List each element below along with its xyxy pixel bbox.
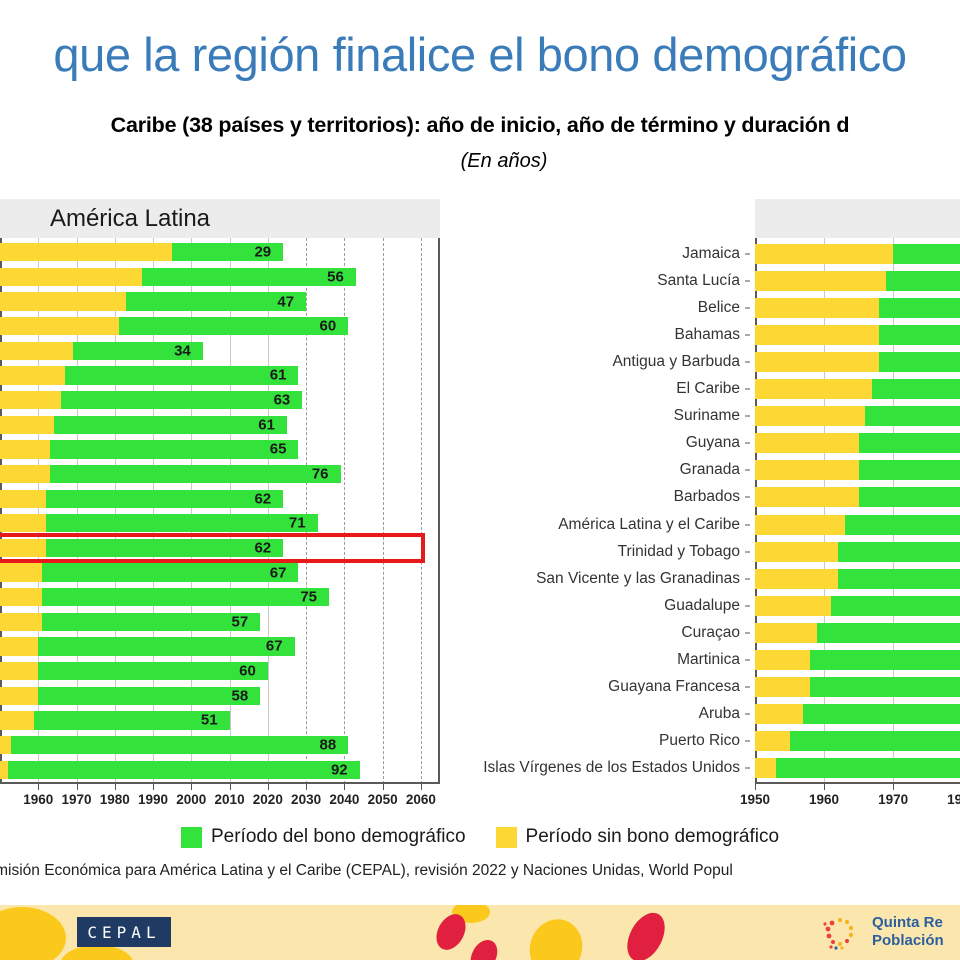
x-axis-tick-mark: [115, 784, 116, 790]
bar-row[interactable]: 62: [0, 539, 440, 557]
x-axis-tick-mark: [383, 784, 384, 790]
bar-row[interactable]: 29: [0, 243, 440, 261]
bar-row[interactable]: 57: [0, 613, 440, 631]
y-axis-tick-mark: [745, 632, 750, 633]
y-axis-tick-label: Granada: [680, 461, 740, 479]
bar-segment-no-bonus: [755, 460, 859, 480]
x-axis-tick-label: 1970: [878, 792, 908, 807]
page-units: (En años): [0, 150, 960, 173]
bar-row[interactable]: 76: [0, 465, 440, 483]
y-axis-labels-el-caribe: JamaicaSanta LucíaBeliceBahamasAntigua y…: [450, 238, 750, 784]
bar-value-label: 58: [0, 687, 248, 704]
y-axis-tick-label: Martinica: [677, 651, 740, 669]
legend-swatch-green-icon: [181, 827, 202, 848]
axis-line: [755, 238, 757, 784]
quinta-reunion-text: Quinta Re Población: [872, 914, 944, 949]
chart-title-america-latina: América Latina: [0, 199, 440, 238]
chart-panel-el-caribe: El JamaicaSanta LucíaBeliceBahamasAntigu…: [450, 199, 960, 784]
x-axis-tick-mark: [77, 784, 78, 790]
bar-value-label: 29: [0, 244, 271, 261]
x-axis-tick-mark: [344, 784, 345, 790]
y-axis-tick-mark: [745, 280, 750, 281]
bar-value-label: 53: [755, 245, 960, 262]
x-axis-tick-label: 1960: [23, 792, 53, 807]
legend-swatch-yellow-icon: [496, 827, 517, 848]
bar-row[interactable]: 71: [0, 514, 440, 532]
bar-row[interactable]: 47: [0, 292, 440, 310]
bar-row[interactable]: 67: [0, 637, 440, 655]
bar-row[interactable]: 61: [0, 366, 440, 384]
y-axis-tick-label: El Caribe: [676, 380, 740, 398]
x-axis-tick-mark: [153, 784, 154, 790]
bar-row[interactable]: 58: [0, 687, 440, 705]
source-note-line1: ación de la Comisión Económica para Amér…: [0, 860, 960, 881]
bar-value-label: 34: [0, 342, 191, 359]
bar-row[interactable]: 47: [755, 704, 960, 724]
x-axis-tick-label: 2010: [215, 792, 245, 807]
bar-row[interactable]: 62: [0, 490, 440, 508]
y-axis-tick-label: Curaçao: [681, 624, 740, 642]
y-axis-tick-mark: [745, 605, 750, 606]
y-axis-tick-mark: [745, 768, 750, 769]
y-axis-tick-label: Islas Vírgenes de los Estados Unidos: [483, 759, 740, 777]
bar-value-label: 50: [755, 353, 960, 370]
bar-row[interactable]: [755, 298, 960, 318]
bar-row[interactable]: 41: [755, 487, 960, 507]
bar-value-label: 65: [0, 441, 286, 458]
chart-panel-america-latina: América Latina 2956476034616361657662716…: [0, 199, 440, 784]
bar-value-label: 60: [0, 663, 256, 680]
y-axis-tick-label: Guayana Francesa: [608, 678, 740, 696]
x-axis-el-caribe: 1950196019701980199020: [755, 784, 960, 814]
y-axis-tick-mark: [745, 253, 750, 254]
x-axis-tick-label: 2050: [368, 792, 398, 807]
bar-segment-bonus: [859, 460, 960, 480]
bar-row[interactable]: 60: [755, 569, 960, 589]
bar-value-label: 55: [755, 408, 960, 425]
bar-value-label: 76: [0, 466, 329, 483]
y-axis-tick-label: Santa Lucía: [657, 272, 740, 290]
bar-value-label: 56: [0, 268, 344, 285]
y-axis-tick-label: Belice: [698, 299, 740, 317]
bar-value-label: 71: [0, 515, 306, 532]
quinta-reunion-line2: Población: [872, 932, 944, 950]
x-axis-tick-label: 2040: [329, 792, 359, 807]
source-note: ación de la Comisión Económica para Amér…: [0, 860, 960, 903]
decorative-blob-icon: [522, 912, 589, 960]
bar-row[interactable]: 58: [755, 623, 960, 643]
bar-value-label: 30: [755, 597, 960, 614]
bar-value-label: 61: [0, 416, 275, 433]
quinta-reunion-logo-icon: [820, 913, 860, 953]
bar-value-label: 47: [0, 293, 294, 310]
decorative-blob-icon: [0, 907, 66, 960]
bar-value-label: 75: [0, 589, 317, 606]
x-axis-tick-label: 2030: [291, 792, 321, 807]
bar-row[interactable]: 51: [755, 379, 960, 399]
y-axis-tick-label: Jamaica: [682, 245, 740, 263]
bar-row[interactable]: 50: [755, 352, 960, 372]
bar-row[interactable]: 51: [0, 711, 440, 729]
decorative-blob-icon: [620, 907, 673, 960]
bar-value-label: 44: [755, 543, 960, 560]
bar-row[interactable]: 44: [755, 542, 960, 562]
y-axis-tick-label: Guyana: [686, 434, 740, 452]
x-axis-tick-label: 2020: [253, 792, 283, 807]
x-axis-america-latina: 1960197019801990200020102020203020402050…: [0, 784, 440, 814]
bar-row[interactable]: [755, 677, 960, 697]
decorative-blob-icon: [465, 935, 502, 960]
y-axis-tick-label: Barbados: [674, 488, 740, 506]
y-axis-tick-mark: [745, 334, 750, 335]
bar-row[interactable]: 53: [755, 758, 960, 778]
bar-row[interactable]: 53: [755, 244, 960, 264]
bar-row[interactable]: 60: [0, 662, 440, 680]
legend-item-no-bonus-period: Período sin bono demográfico: [496, 826, 780, 848]
x-axis-tick-mark: [421, 784, 422, 790]
bar-value-label: 60: [0, 318, 336, 335]
bar-row[interactable]: 92: [0, 761, 440, 779]
bar-row[interactable]: 29: [755, 650, 960, 670]
quinta-reunion-line1: Quinta Re: [872, 914, 944, 932]
y-axis-tick-label: Trinidad y Tobago: [618, 543, 740, 561]
y-axis-tick-mark: [745, 741, 750, 742]
bar-value-label: 62: [755, 516, 960, 533]
y-axis-tick-mark: [745, 551, 750, 552]
y-axis-tick-label: Aruba: [699, 705, 740, 723]
legend-item-bonus-period: Período del bono demográfico: [181, 826, 466, 848]
y-axis-tick-label: San Vicente y las Granadinas: [536, 570, 740, 588]
y-axis-tick-label: Antigua y Barbuda: [612, 353, 740, 371]
y-axis-tick-label: Suriname: [674, 407, 740, 425]
bar-row[interactable]: 54: [755, 271, 960, 291]
page-footer: CEPAL Quinta Re Población: [0, 905, 960, 960]
x-axis-tick-label: 2000: [176, 792, 206, 807]
source-note-link[interactable]: vpp/.: [0, 881, 960, 902]
legend-label-bonus-period: Período del bono demográfico: [211, 826, 466, 848]
bar-row[interactable]: 34: [0, 342, 440, 360]
bar-value-label: 63: [0, 392, 290, 409]
bar-segment-no-bonus: [755, 298, 879, 318]
bar-value-label: 92: [0, 761, 348, 778]
y-axis-tick-mark: [745, 497, 750, 498]
x-axis-tick-label: 1960: [809, 792, 839, 807]
x-axis-tick-label: 1970: [61, 792, 91, 807]
x-axis-tick-mark: [824, 784, 825, 790]
x-axis-tick-mark: [893, 784, 894, 790]
x-axis-tick-label: 1980: [100, 792, 130, 807]
plot-area-america-latina: 2956476034616361657662716267755767605851…: [0, 238, 440, 784]
bar-value-label: 62: [0, 490, 271, 507]
page-subtitle: Caribe (38 países y territorios): año de…: [0, 113, 960, 138]
y-axis-tick-label: Bahamas: [675, 326, 740, 344]
bar-row[interactable]: 61: [0, 416, 440, 434]
bar-segment-bonus: [810, 677, 960, 697]
legend-label-no-bonus-period: Período sin bono demográfico: [526, 826, 780, 848]
bar-row[interactable]: 67: [0, 563, 440, 581]
bar-segment-bonus: [859, 433, 960, 453]
bar-value-label: 51: [0, 712, 218, 729]
bar-value-label: 41: [755, 489, 960, 506]
x-axis-tick-mark: [268, 784, 269, 790]
x-axis-tick-label: 1950: [740, 792, 770, 807]
y-axis-tick-mark: [745, 443, 750, 444]
y-axis-tick-mark: [745, 660, 750, 661]
bar-row[interactable]: 63: [0, 391, 440, 409]
gridline: [893, 238, 894, 784]
y-axis-tick-mark: [745, 389, 750, 390]
y-axis-tick-mark: [745, 361, 750, 362]
bar-value-label: 29: [755, 652, 960, 669]
page-title: que la región finalice el bono demográfi…: [0, 30, 960, 79]
x-axis-tick-mark: [230, 784, 231, 790]
y-axis-tick-mark: [745, 714, 750, 715]
x-axis-tick-mark: [191, 784, 192, 790]
bar-value-label: 57: [0, 613, 248, 630]
bar-segment-no-bonus: [755, 433, 859, 453]
bar-value-label: 58: [755, 624, 960, 641]
bar-segment-no-bonus: [755, 677, 810, 697]
x-axis-tick-label: 1990: [138, 792, 168, 807]
bar-row[interactable]: 62: [755, 515, 960, 535]
y-axis-tick-mark: [745, 578, 750, 579]
chart-legend: Período del bono demográfico Período sin…: [0, 826, 960, 848]
bar-value-label: 88: [0, 737, 336, 754]
bar-row[interactable]: 55: [755, 406, 960, 426]
decorative-blob-icon: [60, 945, 134, 960]
y-axis-tick-label: Puerto Rico: [659, 732, 740, 750]
x-axis-tick-label: 1980: [947, 792, 960, 807]
bar-value-label: 67: [0, 564, 286, 581]
y-axis-tick-mark: [745, 470, 750, 471]
x-axis-tick-mark: [755, 784, 756, 790]
bar-segment-bonus: [879, 298, 960, 318]
gridline: [824, 238, 825, 784]
x-axis-tick-mark: [38, 784, 39, 790]
bar-value-label: 55: [755, 326, 960, 343]
bar-row[interactable]: 75: [0, 588, 440, 606]
bar-value-label: 61: [0, 367, 286, 384]
bar-value-label: 54: [755, 272, 960, 289]
bar-value-label: 67: [0, 638, 283, 655]
bar-row[interactable]: [755, 460, 960, 480]
bar-value-label: 52: [755, 733, 960, 750]
x-axis-tick-label: 2060: [406, 792, 436, 807]
bar-value-label: 47: [755, 706, 960, 723]
y-axis-tick-label: Guadalupe: [664, 597, 740, 615]
chart-title-el-caribe: El: [755, 199, 960, 238]
plot-area-el-caribe: 53545550515541624460305829475253: [755, 238, 960, 784]
bar-row[interactable]: 55: [755, 325, 960, 345]
bar-row[interactable]: 88: [0, 736, 440, 754]
cepal-logo: CEPAL: [77, 917, 171, 947]
y-axis-tick-label: América Latina y el Caribe: [558, 516, 740, 534]
bar-row[interactable]: 30: [755, 596, 960, 616]
bar-value-label: 62: [0, 539, 271, 556]
bar-value-label: 53: [755, 760, 960, 777]
y-axis-tick-mark: [745, 307, 750, 308]
bar-row[interactable]: 52: [755, 731, 960, 751]
bar-row[interactable]: [755, 433, 960, 453]
bar-row[interactable]: 60: [0, 317, 440, 335]
y-axis-tick-mark: [745, 687, 750, 688]
bar-row[interactable]: 56: [0, 268, 440, 286]
bar-row[interactable]: 65: [0, 440, 440, 458]
bar-value-label: 60: [755, 570, 960, 587]
x-axis-tick-mark: [306, 784, 307, 790]
bar-value-label: 51: [755, 381, 960, 398]
y-axis-tick-mark: [745, 524, 750, 525]
y-axis-tick-mark: [745, 416, 750, 417]
